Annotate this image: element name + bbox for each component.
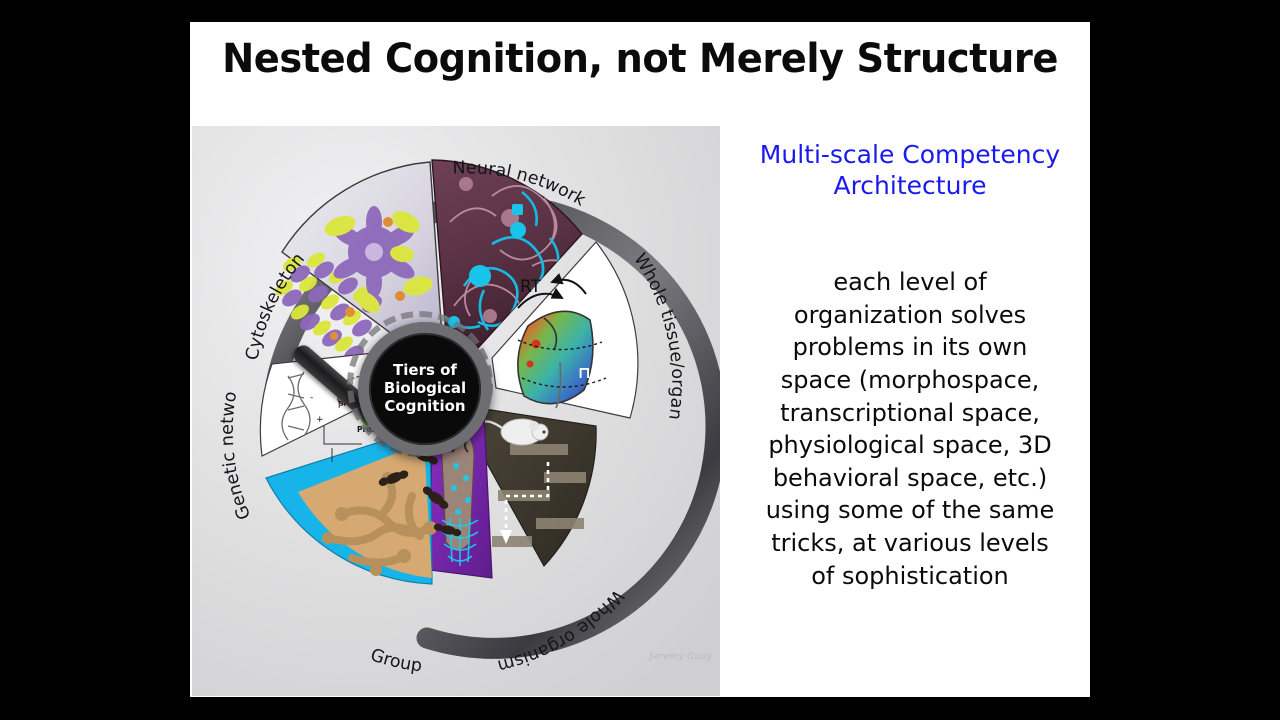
svg-text:⊓: ⊓: [578, 363, 591, 382]
body-line: behavioral space, etc.): [734, 462, 1086, 495]
magnifier-lens: Tiers ofBiologicalCognition: [358, 322, 492, 456]
text-column: Multi-scale Competency Architecture each…: [734, 126, 1086, 696]
subtitle: Multi-scale Competency Architecture: [734, 140, 1086, 201]
body-text: each level oforganization solvesproblems…: [734, 266, 1086, 592]
svg-text:-: -: [310, 393, 313, 403]
body-line: transcriptional space,: [734, 397, 1086, 430]
body-line: space (morphospace,: [734, 364, 1086, 397]
body-line: of sophistication: [734, 560, 1086, 593]
center-label: Tiers ofBiologicalCognition: [384, 362, 466, 415]
svg-text:RT: RT: [520, 277, 542, 297]
slide: Nested Cognition, not Merely Structure: [190, 22, 1090, 697]
body-line: tricks, at various levels: [734, 527, 1086, 560]
figure-panel: RT ⊓: [192, 126, 720, 696]
body-line: problems in its own: [734, 331, 1086, 364]
screen: Nested Cognition, not Merely Structure: [0, 0, 1280, 720]
page-title: Nested Cognition, not Merely Structure: [208, 36, 1072, 82]
body-line: each level of: [734, 266, 1086, 299]
body-line: using some of the same: [734, 494, 1086, 527]
body-line: organization solves: [734, 299, 1086, 332]
body-line: physiological space, 3D: [734, 429, 1086, 462]
svg-text:+: +: [316, 415, 324, 425]
image-credit: Jeremy Guay: [649, 652, 712, 662]
